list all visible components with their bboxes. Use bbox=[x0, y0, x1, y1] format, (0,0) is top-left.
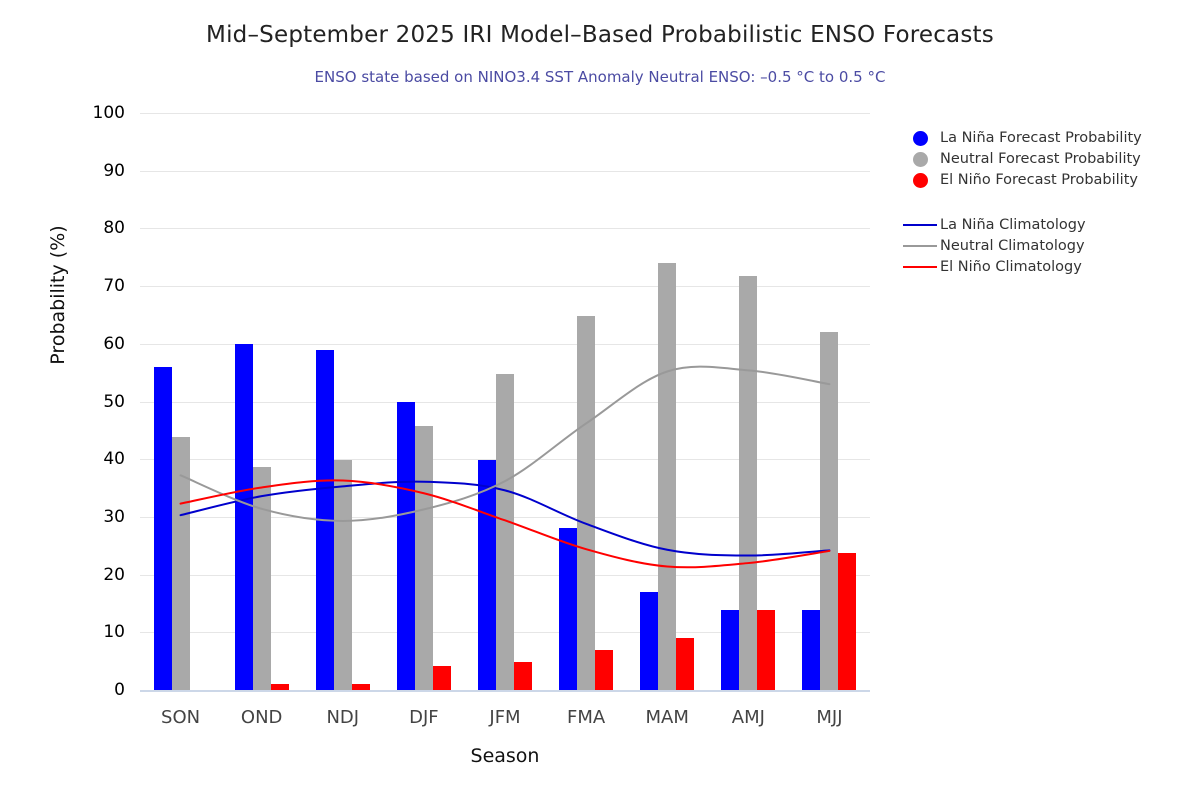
marker-dot bbox=[913, 173, 928, 188]
x-tick-label: SON bbox=[161, 707, 200, 728]
marker-dot bbox=[913, 131, 928, 146]
legend-line-icon bbox=[900, 224, 940, 226]
bar-elnino bbox=[757, 610, 775, 690]
x-tick-label: DJF bbox=[409, 707, 439, 728]
bar-neutral bbox=[577, 316, 595, 690]
bar-elnino bbox=[838, 553, 856, 690]
chart-root: Mid–September 2025 IRI Model–Based Proba… bbox=[0, 0, 1200, 800]
legend-dot-icon bbox=[900, 173, 940, 188]
plot-area bbox=[140, 113, 870, 690]
bar-neutral bbox=[334, 460, 352, 690]
x-tick-label: AMJ bbox=[732, 707, 765, 728]
x-axis-tick-labels: SONONDNDJDJFJFMFMAMAMAMJMJJ bbox=[140, 700, 870, 728]
y-tick-label: 40 bbox=[65, 449, 125, 469]
x-tick-label: NDJ bbox=[326, 707, 359, 728]
legend-dot-icon bbox=[900, 131, 940, 146]
y-tick-label: 80 bbox=[65, 218, 125, 238]
bars-layer bbox=[140, 113, 870, 690]
bar-elnino bbox=[676, 638, 694, 690]
bar-lanina bbox=[478, 460, 496, 690]
x-tick-label: MAM bbox=[646, 707, 689, 728]
legend-label: Neutral Climatology bbox=[940, 238, 1085, 254]
legend-label: La Niña Climatology bbox=[940, 217, 1086, 233]
legend-separator bbox=[900, 191, 1190, 215]
y-tick-label: 100 bbox=[65, 103, 125, 123]
legend-item[interactable]: Neutral Climatology bbox=[900, 236, 1190, 256]
y-tick-label: 60 bbox=[65, 334, 125, 354]
marker-dot bbox=[913, 152, 928, 167]
bar-lanina bbox=[316, 350, 334, 690]
marker-line bbox=[903, 245, 937, 247]
x-tick-label: OND bbox=[241, 707, 283, 728]
bar-lanina bbox=[802, 610, 820, 690]
bar-neutral bbox=[739, 276, 757, 690]
bar-lanina bbox=[235, 344, 253, 690]
legend-label: El Niño Forecast Probability bbox=[940, 172, 1138, 188]
y-tick-label: 0 bbox=[65, 680, 125, 700]
bar-neutral bbox=[415, 426, 433, 690]
y-tick-label: 50 bbox=[65, 392, 125, 412]
bar-elnino bbox=[595, 650, 613, 690]
bar-lanina bbox=[721, 610, 739, 690]
legend: La Niña Forecast ProbabilityNeutral Fore… bbox=[900, 128, 1190, 278]
page-title: Mid–September 2025 IRI Model–Based Proba… bbox=[0, 22, 1200, 48]
legend-item[interactable]: El Niño Forecast Probability bbox=[900, 170, 1190, 190]
legend-dot-icon bbox=[900, 152, 940, 167]
legend-label: El Niño Climatology bbox=[940, 259, 1082, 275]
bar-neutral bbox=[172, 437, 190, 690]
x-tick-label: JFM bbox=[489, 707, 520, 728]
y-tick-label: 30 bbox=[65, 507, 125, 527]
legend-item[interactable]: La Niña Climatology bbox=[900, 215, 1190, 235]
bar-neutral bbox=[496, 374, 514, 690]
bar-neutral bbox=[253, 467, 271, 690]
legend-label: Neutral Forecast Probability bbox=[940, 151, 1141, 167]
x-axis-baseline bbox=[140, 690, 870, 692]
chart-subtitle: ENSO state based on NINO3.4 SST Anomaly … bbox=[0, 68, 1200, 86]
marker-line bbox=[903, 266, 937, 268]
x-tick-label: MJJ bbox=[816, 707, 842, 728]
legend-line-icon bbox=[900, 266, 940, 268]
x-axis-title: Season bbox=[140, 745, 870, 767]
y-tick-label: 10 bbox=[65, 622, 125, 642]
x-tick-label: FMA bbox=[567, 707, 605, 728]
bar-lanina bbox=[640, 592, 658, 690]
legend-item[interactable]: Neutral Forecast Probability bbox=[900, 149, 1190, 169]
bar-lanina bbox=[154, 367, 172, 690]
legend-label: La Niña Forecast Probability bbox=[940, 130, 1142, 146]
bar-neutral bbox=[658, 263, 676, 690]
y-tick-label: 70 bbox=[65, 276, 125, 296]
legend-item[interactable]: La Niña Forecast Probability bbox=[900, 128, 1190, 148]
bar-elnino bbox=[514, 662, 532, 690]
y-tick-label: 20 bbox=[65, 565, 125, 585]
y-axis-tick-labels: 0102030405060708090100 bbox=[65, 113, 125, 690]
y-tick-label: 90 bbox=[65, 161, 125, 181]
bar-lanina bbox=[397, 402, 415, 691]
bar-lanina bbox=[559, 528, 577, 690]
bar-neutral bbox=[820, 332, 838, 690]
marker-line bbox=[903, 224, 937, 226]
legend-line-icon bbox=[900, 245, 940, 247]
legend-item[interactable]: El Niño Climatology bbox=[900, 257, 1190, 277]
bar-elnino bbox=[433, 666, 451, 690]
